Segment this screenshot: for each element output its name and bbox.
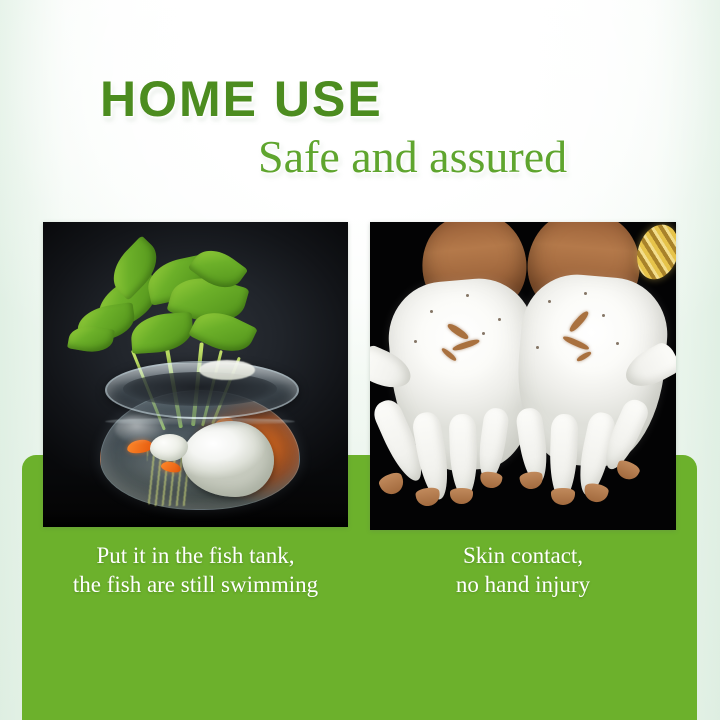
fish-tank-photo	[43, 222, 348, 527]
page-title: HOME USE	[100, 70, 383, 128]
promotional-banner: HOME USE Safe and assured	[0, 0, 720, 720]
putty-on-rim	[199, 360, 255, 380]
fish-tank-scene	[43, 222, 348, 527]
bowl-rim-opening	[123, 372, 277, 406]
hands-photo	[370, 222, 676, 530]
header: HOME USE Safe and assured	[0, 0, 720, 210]
water-surface-line	[105, 418, 295, 425]
caption-left: Put it in the fish tank, the fish are st…	[43, 541, 348, 599]
page-subtitle: Safe and assured	[258, 130, 567, 183]
hands-scene	[370, 222, 676, 530]
caption-right: Skin contact, no hand injury	[370, 541, 676, 599]
